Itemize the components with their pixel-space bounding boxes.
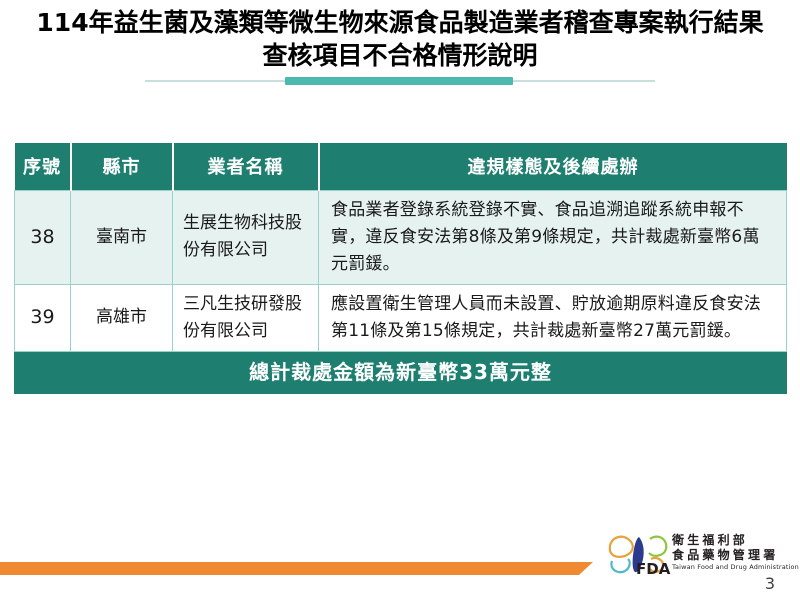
cell-name: 三凡生技研發股份有限公司 — [173, 284, 319, 351]
violations-table-container: 序號 縣市 業者名稱 違規樣態及後續處辦 38 臺南市 生展生物科技股份有限公司… — [14, 143, 786, 394]
column-header-city: 縣市 — [71, 143, 173, 190]
fda-butterfly-icon: FDA — [606, 531, 672, 577]
title-line-2: 查核項目不合格情形說明 — [0, 39, 800, 72]
violations-table: 序號 縣市 業者名稱 違規樣態及後續處辦 38 臺南市 生展生物科技股份有限公司… — [14, 143, 787, 394]
table-header: 序號 縣市 業者名稱 違規樣態及後續處辦 — [15, 143, 787, 190]
table-body: 38 臺南市 生展生物科技股份有限公司 食品業者登錄系統登錄不實、食品追溯追蹤系… — [15, 190, 787, 393]
table-header-row: 序號 縣市 業者名稱 違規樣態及後續處辦 — [15, 143, 787, 190]
summary-total-amount: 總計裁處金額為新臺幣33萬元整 — [15, 351, 787, 393]
page-number: 3 — [756, 574, 784, 593]
page-title: 114年益生菌及藻類等微生物來源食品製造業者稽查專案執行結果 查核項目不合格情形… — [0, 6, 800, 72]
cell-desc: 應設置衛生管理人員而未設置、貯放逾期原料違反食安法第11條及第15條規定，共計裁… — [319, 284, 787, 351]
fda-logo-cn-line1: 衛生福利部 — [672, 533, 790, 548]
cell-city: 臺南市 — [71, 190, 173, 284]
column-header-desc: 違規樣態及後續處辦 — [319, 143, 787, 190]
cell-seq: 39 — [15, 284, 71, 351]
fda-logo-text: 衛生福利部 食品藥物管理署 Taiwan Food and Drug Admin… — [672, 533, 790, 572]
fda-logo-cn-line2: 食品藥物管理署 — [672, 548, 790, 563]
table-summary-row: 總計裁處金額為新臺幣33萬元整 — [15, 351, 787, 393]
table-row: 38 臺南市 生展生物科技股份有限公司 食品業者登錄系統登錄不實、食品追溯追蹤系… — [15, 190, 787, 284]
fda-logo-en: Taiwan Food and Drug Administration — [672, 563, 790, 572]
cell-name: 生展生物科技股份有限公司 — [173, 190, 319, 284]
footer-accent-bar — [0, 562, 593, 575]
slide-canvas: 114年益生菌及藻類等微生物來源食品製造業者稽查專案執行結果 查核項目不合格情形… — [0, 0, 800, 600]
title-underline-accent — [285, 77, 513, 85]
table-row: 39 高雄市 三凡生技研發股份有限公司 應設置衛生管理人員而未設置、貯放逾期原料… — [15, 284, 787, 351]
cell-seq: 38 — [15, 190, 71, 284]
title-line-1: 114年益生菌及藻類等微生物來源食品製造業者稽查專案執行結果 — [0, 6, 800, 39]
svg-text:FDA: FDA — [636, 560, 671, 577]
fda-logo: FDA 衛生福利部 食品藥物管理署 Taiwan Food and Drug A… — [606, 531, 788, 579]
cell-desc: 食品業者登錄系統登錄不實、食品追溯追蹤系統申報不實，違反食安法第8條及第9條規定… — [319, 190, 787, 284]
column-header-name: 業者名稱 — [173, 143, 319, 190]
column-header-seq: 序號 — [15, 143, 71, 190]
cell-city: 高雄市 — [71, 284, 173, 351]
